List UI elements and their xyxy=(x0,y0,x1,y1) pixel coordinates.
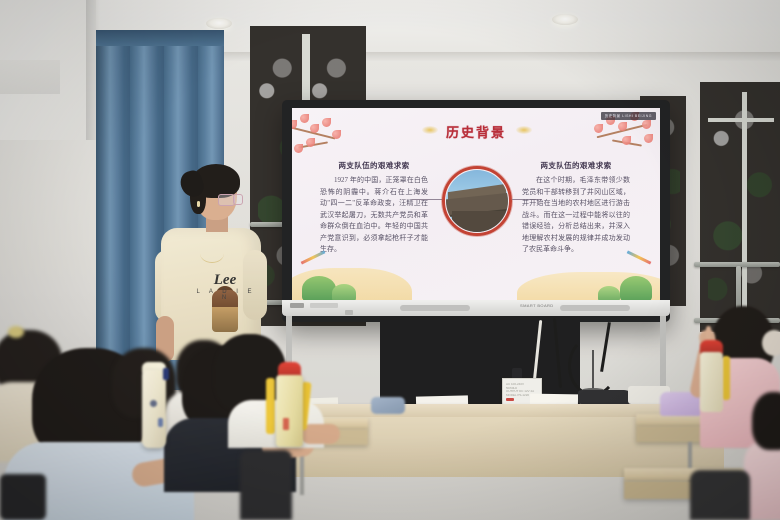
bottle-sticker xyxy=(150,400,157,407)
ribbon-decor-right xyxy=(627,250,652,264)
tree-decor-right xyxy=(620,276,652,302)
thermos-right-body xyxy=(700,352,723,412)
chair-back xyxy=(240,450,292,520)
slide-title: 历史背景 xyxy=(292,122,660,141)
soffit-notch xyxy=(0,60,60,94)
desk-dark-object xyxy=(578,390,634,404)
ceiling-light-icon xyxy=(206,18,232,29)
tshirt-brand-logo: Lee xyxy=(205,272,245,289)
smart-board-screen[interactable]: 历史背景 两支队伍的艰难求索 1927 年的中国，正笼罩在白色恐怖的阴霾中。蒋介… xyxy=(292,108,660,302)
teacher-glasses-lens-right xyxy=(233,194,243,205)
power-indicator xyxy=(506,398,514,401)
smart-board-label xyxy=(310,303,338,308)
thermos-body xyxy=(276,375,303,447)
smart-board-speaker xyxy=(560,305,630,311)
window-right-mullion xyxy=(742,92,747,324)
slide-center-image xyxy=(442,166,512,236)
thermos-right-strap xyxy=(722,356,730,400)
teacher-earring xyxy=(197,201,200,207)
bottle-sticker-2 xyxy=(158,418,163,427)
thermos-strap-left xyxy=(266,378,275,434)
microphone-stand xyxy=(592,350,594,390)
chair-back xyxy=(0,474,46,520)
window-right-transom xyxy=(708,118,774,122)
slide: 历史背景 两支队伍的艰难求索 1927 年的中国，正笼罩在白色恐怖的阴霾中。蒋介… xyxy=(292,108,660,302)
smart-board-speaker xyxy=(400,305,470,311)
teacher-sleeve-right xyxy=(243,250,267,320)
window-right-pane xyxy=(708,92,774,324)
title-ornament-right xyxy=(516,126,532,134)
tshirt-sub-text: L A D I E N xyxy=(196,289,256,301)
hair-clip-plush-icon xyxy=(762,330,780,356)
slide-watermark: 历史背景 LISHI BEIJING xyxy=(601,112,656,120)
classroom-screenshot: 历史背景 两支队伍的艰难求索 1927 年的中国，正笼罩在白色恐怖的阴霾中。蒋介… xyxy=(0,0,780,520)
smart-board-brand: SMART BOARD xyxy=(520,303,554,308)
slide-column-left: 两支队伍的艰难求索 1927 年的中国，正笼罩在白色恐怖的阴霾中。蒋介石在上海发… xyxy=(320,160,428,256)
ceiling-light-icon xyxy=(552,14,578,25)
thermos-label xyxy=(283,418,289,430)
photo-ring xyxy=(442,166,512,236)
slide-column-left-body: 1927 年的中国，正笼罩在白色恐怖的阴霾中。蒋介石在上海发动"四一二"反革命政… xyxy=(320,175,428,256)
student-far-right-hair xyxy=(752,392,780,450)
smart-board-power-button[interactable] xyxy=(345,310,353,315)
smart-board-port[interactable] xyxy=(290,303,304,308)
slide-column-left-heading: 两支队伍的艰难求索 xyxy=(320,160,428,171)
blue-pencil-case xyxy=(371,397,405,414)
slide-column-right: 两支队伍的艰难求索 在这个时期，毛泽东带领少数党员和干部转移到了井冈山区域，并开… xyxy=(522,160,630,256)
slide-column-right-heading: 两支队伍的艰难求索 xyxy=(522,160,630,171)
tree-decor-left xyxy=(302,276,336,302)
water-bottle-cream xyxy=(142,370,166,448)
chair-back xyxy=(690,470,750,520)
hair-tie-icon xyxy=(8,326,24,338)
divider-line-left xyxy=(412,199,442,200)
finger-icon xyxy=(706,326,711,340)
curtain-rail xyxy=(96,30,224,46)
ribbon-decor-left xyxy=(301,250,326,264)
slide-column-right-body: 在这个时期，毛泽东带领少数党员和干部转移到了井冈山区域，并开始在当地的农村地区进… xyxy=(522,175,630,256)
bottle-clip xyxy=(163,368,169,380)
teacher-necklace xyxy=(200,244,224,263)
